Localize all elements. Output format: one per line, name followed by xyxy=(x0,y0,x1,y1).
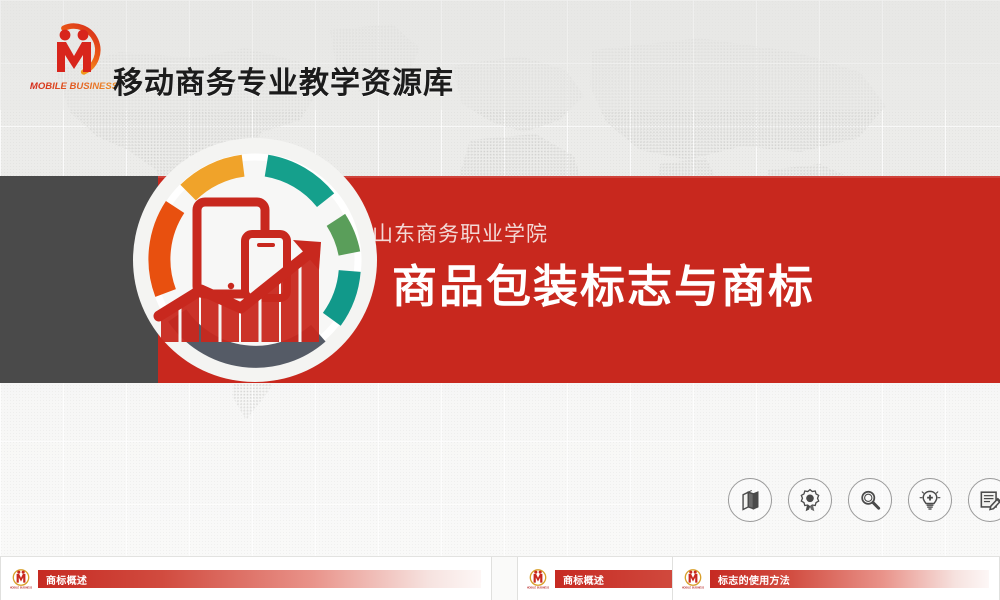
panel-label-2: 商标概述 xyxy=(563,572,604,587)
header-title: 移动商务专业教学资源库 xyxy=(113,58,454,102)
panel-label-1: 商标概述 xyxy=(46,572,87,587)
mobile-business-logo-icon: MOBILE BUSINESS xyxy=(682,568,704,590)
panel-label-3: 标志的使用方法 xyxy=(718,572,790,587)
bottom-panel-strip: MOBILE BUSINESS 商标概述 MOBILE BUSINESS 商标概… xyxy=(0,556,1000,600)
resource-icon-row[interactable] xyxy=(728,478,1000,522)
slide-main-title: 商品包装标志与商标 xyxy=(392,250,815,315)
document-pen-icon[interactable] xyxy=(968,478,1000,522)
logo-text-en: MOBILE BUSINESS xyxy=(30,81,119,92)
svg-text:MOBILE BUSINESS: MOBILE BUSINESS xyxy=(682,587,704,590)
magnifier-icon[interactable] xyxy=(848,478,892,522)
presentation-slide: MOBILE BUSINESS 移动商务专业教学资源库 山东商务职业学院 商品包… xyxy=(0,0,1000,600)
bottom-panel-1[interactable]: MOBILE BUSINESS 商标概述 xyxy=(0,557,492,600)
panel-title-bar-3: 标志的使用方法 xyxy=(710,570,989,588)
bottom-panel-3[interactable]: MOBILE BUSINESS 标志的使用方法 xyxy=(672,557,1000,600)
panel-title-bar-1: 商标概述 xyxy=(38,570,481,588)
award-badge-icon[interactable] xyxy=(788,478,832,522)
mobile-commerce-growth-emblem xyxy=(125,130,385,390)
institution-subtitle: 山东商务职业学院 xyxy=(372,218,548,248)
svg-text:MOBILE BUSINESS: MOBILE BUSINESS xyxy=(10,587,32,590)
mobile-business-logo-icon: MOBILE BUSINESS xyxy=(26,22,122,92)
books-icon[interactable] xyxy=(728,478,772,522)
lightbulb-plus-icon[interactable] xyxy=(908,478,952,522)
green-segment xyxy=(336,220,350,254)
svg-text:MOBILE BUSINESS: MOBILE BUSINESS xyxy=(527,587,549,590)
slide-header: MOBILE BUSINESS 移动商务专业教学资源库 xyxy=(0,0,1000,112)
mobile-business-logo-icon: MOBILE BUSINESS xyxy=(10,568,32,590)
mobile-business-logo-icon: MOBILE BUSINESS xyxy=(527,568,549,590)
